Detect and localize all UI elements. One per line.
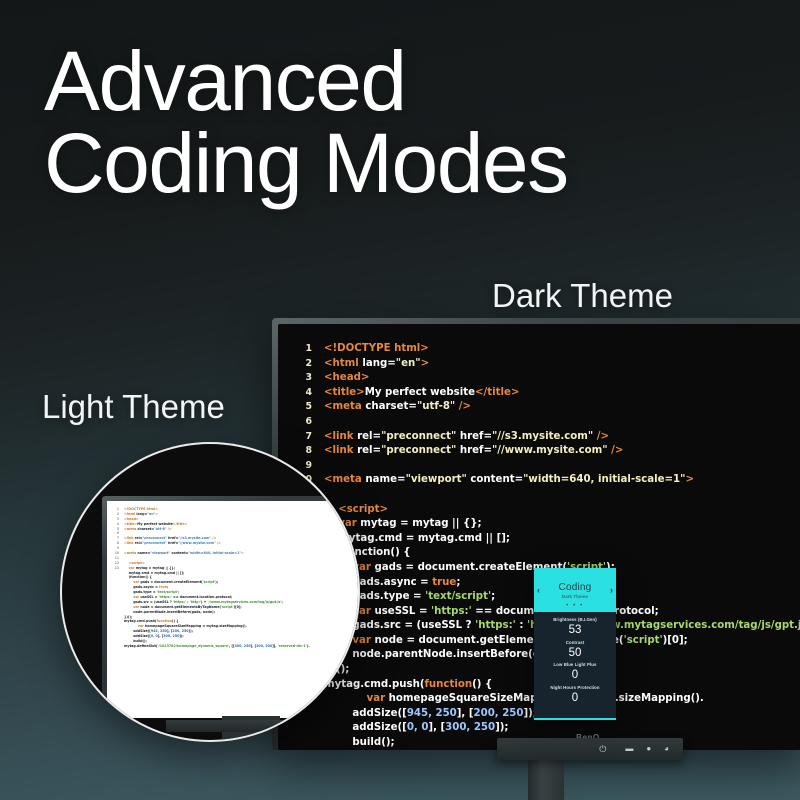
osd-settings-list: Brightness (B.I.Gen)53Contrast50Low Blue… [534,612,616,720]
code-token: gads = document.createElement( [140,580,202,584]
code-token: 'https:' [173,600,186,604]
code-token: build(); [133,639,147,643]
code-token: My perfect website [365,387,475,398]
chevron-right-icon[interactable]: › [610,585,613,595]
code-token: 300, 250 [445,722,495,733]
code-token: addSize([ [352,708,406,719]
code-token: ]); [189,629,193,633]
code-token: href= [167,541,179,545]
code-token: <head> [124,517,139,521]
code-token: <head> [324,372,369,383]
code-token: <!DOCTYPE html> [324,343,429,354]
code-indent [124,624,138,628]
code-line: 7<link rel="preconnect" href="//s3.mysit… [278,430,800,445]
code-line: 10<meta name="viewport" content="width=6… [278,473,800,488]
code-token: var [367,693,389,704]
code-token: name= [137,551,150,555]
code-indent [324,737,352,748]
code-line: 2<html lang="en"> [278,357,800,372]
code-token: addSize([ [133,629,151,633]
code-indent [124,600,133,604]
code-token: "//www.mysite.com" [178,541,215,545]
code-line-number: 5 [278,400,312,415]
code-token: "preconnect" [381,445,456,456]
code-token: lang= [136,512,147,516]
headline-line-2: Coding Modes [44,116,568,210]
code-token: /> [608,445,624,456]
code-token: 'text/script' [425,591,491,602]
code-line: mytag.defineSlot('/1023782/homepage_dyna… [107,644,310,649]
code-token: useSSL = [140,595,158,599]
osd-setting-value: 50 [537,646,613,660]
code-token: "utf-8" [417,401,455,412]
code-token: "//s3.mysite.com" [178,536,211,540]
code-indent [124,580,133,584]
code-token: 'https:' [431,606,472,617]
code-token: 200, 250 [474,708,524,719]
code-token: ], [ [428,722,445,733]
code-token: content= [170,551,188,555]
osd-setting-value: 53 [537,623,613,637]
headline-line-1: Advanced [44,34,406,128]
code-token: function [425,679,473,690]
code-token: 300, 250 [163,634,179,638]
code-line: 9 [278,459,800,474]
code-token: </title> [475,387,519,398]
code-token: </title> [173,522,187,526]
code-token: ); [215,580,218,584]
code-indent [124,590,133,594]
code-token: true [432,577,456,588]
code-token: ; [178,590,179,594]
code-editor-light: 1<!DOCTYPE html>2<html lang="en">3<head>… [107,501,310,649]
code-line-number: 3 [278,371,312,386]
code-indent [124,585,133,589]
code-token: "//s3.mysite.com" [492,431,593,442]
code-token: <html [324,358,362,369]
code-token: true [159,585,167,589]
code-token: (function() { [129,575,152,579]
code-token: "utf-8" [154,527,166,531]
code-line: 3<head> [278,371,800,386]
inset-monitor-screen: 1<!DOCTYPE html>2<html lang="en">3<head>… [107,501,360,718]
code-token: "viewport" [150,551,170,555]
code-token: /> [211,536,216,540]
code-line-number: 8 [278,444,312,459]
code-token: ; [282,600,283,604]
code-line-number: 13 [107,566,119,571]
code-token: /> [593,431,609,442]
code-token: mytag.cmd = mytag.cmd || []; [338,533,510,544]
code-token: <meta [124,551,137,555]
code-token: ) + [201,600,208,604]
code-token: <link [324,431,357,442]
code-token: ]); [179,634,183,638]
code-token: > [421,358,430,369]
code-token: href= [456,431,492,442]
code-line: 5<meta charset="utf-8" /> [278,400,800,415]
code-token: 'text/script' [157,590,178,594]
code-token: rel= [357,431,381,442]
osd-setting-row[interactable]: Contrast50 [537,640,613,660]
code-token: gads.type = [133,590,157,594]
osd-setting-row[interactable]: Night Hours Protection0 [537,685,613,705]
code-token: ; [456,577,460,588]
code-token: <meta [324,401,365,412]
code-line-number: 1 [278,342,312,357]
osd-setting-row[interactable]: Brightness (B.I.Gen)53 [537,617,613,637]
code-token: ], [ [457,708,474,719]
code-token: "viewport" [406,474,467,485]
code-line: 8<link rel="preconnect" href="//www.mysi… [278,444,800,459]
code-token: "preconnect" [142,541,166,545]
code-token: function [157,619,172,623]
code-token: 945, 250 [151,629,167,633]
code-token: href= [456,445,492,456]
code-token: 'https:' [159,595,172,599]
code-token: "//www.mysite.com" [492,445,608,456]
code-indent [124,605,133,609]
inset-control-bar [166,720,336,732]
code-token: var [138,624,145,628]
code-token: 300, 250 [235,644,251,648]
code-token: ]); [495,722,508,733]
code-token: gads.src = (useSSL ? [352,620,475,631]
menu-icon[interactable]: ● [646,745,651,753]
code-token: "width=640, initial-scale=1" [188,551,241,555]
code-token: 'script' [221,605,234,609]
code-token: <meta [124,527,137,531]
code-line: 4<title>My perfect website</title> [278,386,800,401]
code-token: "preconnect" [142,536,166,540]
code-token: <title> [324,387,365,398]
code-token: 'script' [624,635,663,646]
code-token: '/1023782/homepage_dynamic_square' [157,644,229,648]
code-token: mytag.cmd.push( [124,619,157,623]
code-token: useSSL = [374,606,431,617]
code-token: gads.src = (useSSL ? [133,600,173,604]
code-token: 200, 200 [256,644,272,648]
code-indent [124,610,133,614]
code-token: == document.location.protocol; [172,595,233,599]
code-token: ; [167,585,168,589]
code-token: > [155,512,158,516]
chevron-left-icon[interactable]: ‹ [537,585,540,595]
code-token: addSize([ [352,722,406,733]
code-indent [124,629,133,633]
light-theme-label: Light Theme [42,388,225,426]
code-token: My perfect website [137,522,173,526]
code-token: <link [324,445,357,456]
code-token: <link [124,536,135,540]
code-token: () { [472,679,492,690]
eye-care-icon[interactable]: ◕ [664,745,669,753]
code-token: <!DOCTYPE html> [124,507,158,511]
code-token: /> [216,541,221,545]
code-indent [124,639,133,643]
code-line-number: 6 [278,415,312,430]
code-line-number: 4 [278,386,312,401]
code-token: : [516,620,527,631]
code-token: 'http:' [190,600,201,604]
code-line: addSize([0, 0], [300, 250]); [278,721,800,736]
code-token: gads.type = [352,591,425,602]
code-line: 6 [278,415,800,430]
code-token: > [241,551,244,555]
code-token: build(); [352,737,394,748]
code-token: var [129,566,136,570]
osd-panel[interactable]: ‹ › Coding Dark Theme • • • Brightness (… [534,568,616,720]
code-token: "width=640, initial-scale=1" [523,474,685,485]
input-icon[interactable]: ▬ [625,745,633,753]
code-token: 'script' [203,580,216,584]
code-line-number: 2 [278,357,312,372]
code-token: "en" [396,358,421,369]
dark-theme-label: Dark Theme [492,277,673,315]
code-token: 'https:' [475,620,516,631]
code-token: <meta [324,474,365,485]
code-indent [124,595,133,599]
code-token: 945, 250 [407,708,457,719]
code-token: <script> [129,561,145,565]
code-token: addSize([ [133,634,151,638]
code-token: )[0]; [663,635,688,646]
code-token: homepageSquareSizeMapping = mytag.sizeMa… [145,624,247,628]
osd-setting-value: 0 [537,668,613,682]
code-token: > [685,474,694,485]
osd-header: ‹ › Coding Dark Theme • • • [534,568,616,612]
code-token: mytag = mytag || {}; [136,566,175,570]
monitor-control-bar[interactable]: ⏻▬●◕ [497,738,683,760]
power-icon[interactable]: ⏻ [599,745,606,754]
code-token: mytag.defineSlot( [124,644,157,648]
code-token: '//www.mytagservices.com/tag/js/gpt.js' [208,600,282,604]
code-indent [124,634,133,638]
code-token: )[0]; [234,605,242,609]
code-token: content= [467,474,523,485]
code-token: mytag.cmd = mytag.cmd || []; [129,571,185,575]
code-token: 0, 0 [151,634,158,638]
code-token: ). [307,644,310,648]
osd-mode-title: Coding [559,582,592,593]
code-token: rel= [357,445,381,456]
code-line-number: 7 [278,430,312,445]
code-token: 'reserved-div-1' [278,644,307,648]
code-token: "preconnect" [381,431,456,442]
code-token: mytag = mytag || {}; [360,518,481,529]
code-token: charset= [137,527,154,531]
osd-page-dots[interactable]: • • • [534,603,616,609]
code-token: /> [167,527,172,531]
code-token: <html [124,512,136,516]
code-token: })(); [124,615,132,619]
code-token: /> [455,401,471,412]
code-token: <link [124,541,135,545]
code-token: 0, 0 [407,722,429,733]
code-token: charset= [365,401,417,412]
osd-setting-row[interactable]: Low Blue Light Plus0 [537,662,613,682]
page-title: Advanced Coding Modes [44,40,568,205]
light-theme-inset: 1<!DOCTYPE html>2<html lang="en">3<head>… [60,442,360,742]
code-token: gads.async = [133,585,159,589]
code-token: name= [365,474,405,485]
osd-setting-value: 0 [537,691,613,705]
code-token: () { [172,619,179,623]
code-token: gads.async = [352,577,432,588]
code-token: <title> [124,522,137,526]
inset-monitor-bezel: 1<!DOCTYPE html>2<html lang="en">3<head>… [102,496,360,718]
code-token: 200, 250 [172,629,188,633]
code-token: ; [491,591,495,602]
code-token: href= [167,536,179,540]
promo-graphic: Advanced Coding Modes Dark Theme Light T… [0,0,800,800]
osd-mode-subtitle: Dark Theme [562,593,588,600]
code-line: 1<!DOCTYPE html> [278,342,800,357]
code-token: node = document.getElementsByTagName( [140,605,221,609]
code-token: lang= [362,358,395,369]
code-token: node.parentNode.insertBefore(gads, node)… [133,610,215,614]
